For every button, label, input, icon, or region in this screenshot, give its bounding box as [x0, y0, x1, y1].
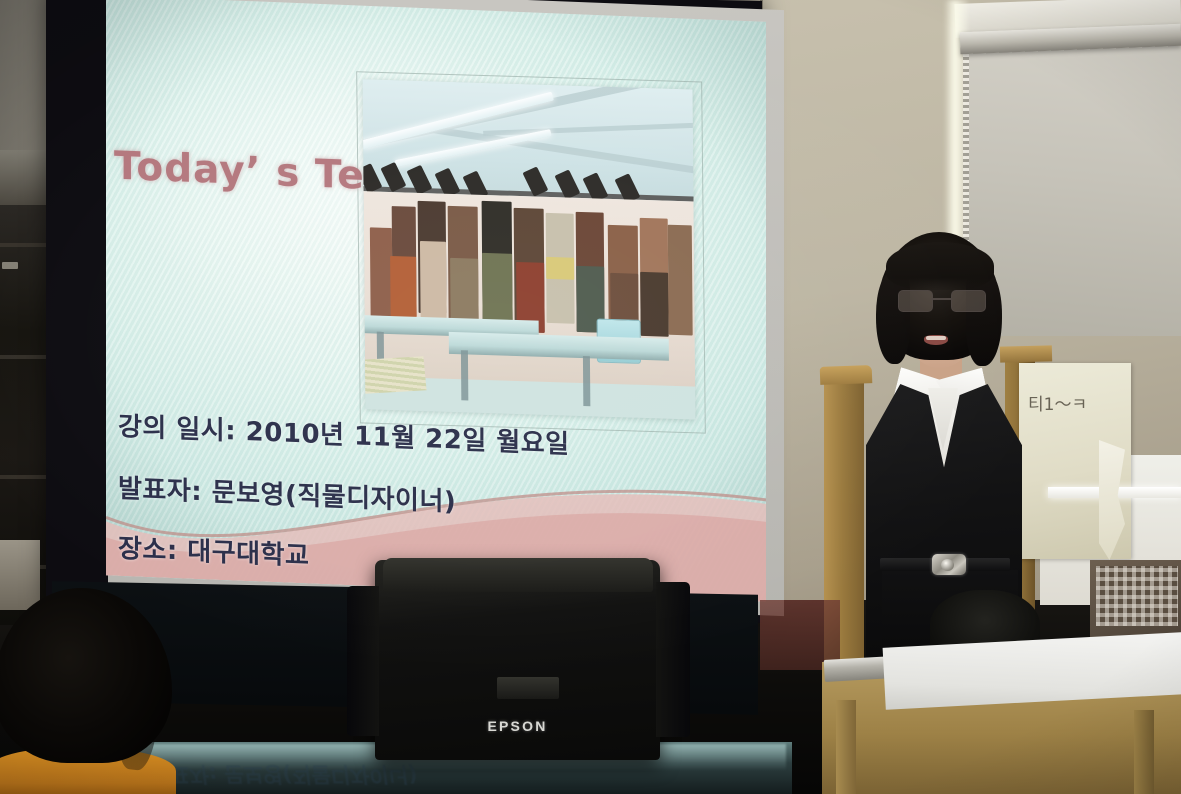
presenter-fringe: [886, 242, 994, 290]
desk-leg-left: [836, 700, 856, 794]
projection-screen-surface: Today’ s Textiles 강의 일시: 2010년 11월 22일 월…: [106, 0, 766, 602]
wall-cabinet-lower: [0, 540, 40, 610]
projector-left-side: [347, 586, 379, 736]
slide-line-presenter: 발표자: 문보영(직물디자이너): [118, 468, 456, 519]
projector-lid: [383, 558, 653, 592]
photo-folded-fabric: [363, 356, 427, 394]
lecture-room-screenshot: 티1〜ㅋ: [0, 0, 1181, 794]
photo-fabric-swatch: [390, 256, 417, 323]
photo-fabric-swatch: [420, 241, 447, 322]
presenter-buckle-center: [941, 559, 954, 571]
glasses-lens-right: [951, 290, 986, 312]
photo-fabric-swatch: [370, 227, 393, 324]
desk-leg-right: [1134, 710, 1154, 794]
projector-right-side: [656, 582, 690, 737]
projector-brand-label: EPSON: [375, 718, 660, 734]
podium-right-rail: [1000, 345, 1052, 362]
projection-screen-frame: Today’ s Textiles 강의 일시: 2010년 11월 22일 월…: [46, 0, 762, 623]
cabinet-label-tag: [2, 262, 18, 269]
photo-fabric-swatch: [482, 253, 513, 328]
glasses-lens-left: [898, 290, 933, 312]
podium-top: [820, 365, 873, 385]
cabinet-shelf: [0, 355, 46, 359]
flipchart-writing: 티1〜ㅋ: [1028, 390, 1087, 415]
photo-table-leg: [461, 350, 468, 400]
slide-line-venue: 장소: 대구대학교: [118, 528, 309, 573]
chair-checkered-cushion: [1096, 566, 1178, 626]
photo-table-leg: [583, 356, 590, 406]
photo-fabric-swatch: [546, 257, 574, 280]
presenter-teeth: [926, 336, 946, 340]
cabinet-shelf: [0, 243, 46, 247]
wall-cabinet-upper: [0, 150, 46, 206]
photo-fabric-swatch: [640, 272, 669, 337]
epson-projector: EPSON: [375, 560, 660, 760]
glasses-bridge: [931, 298, 951, 300]
presenter-glasses: [898, 290, 984, 312]
slide-photo-textile-showroom: [363, 79, 696, 419]
cabinet-shelf: [0, 475, 46, 479]
photo-fabric-swatch: [668, 225, 693, 336]
projector-vent: [497, 677, 559, 699]
